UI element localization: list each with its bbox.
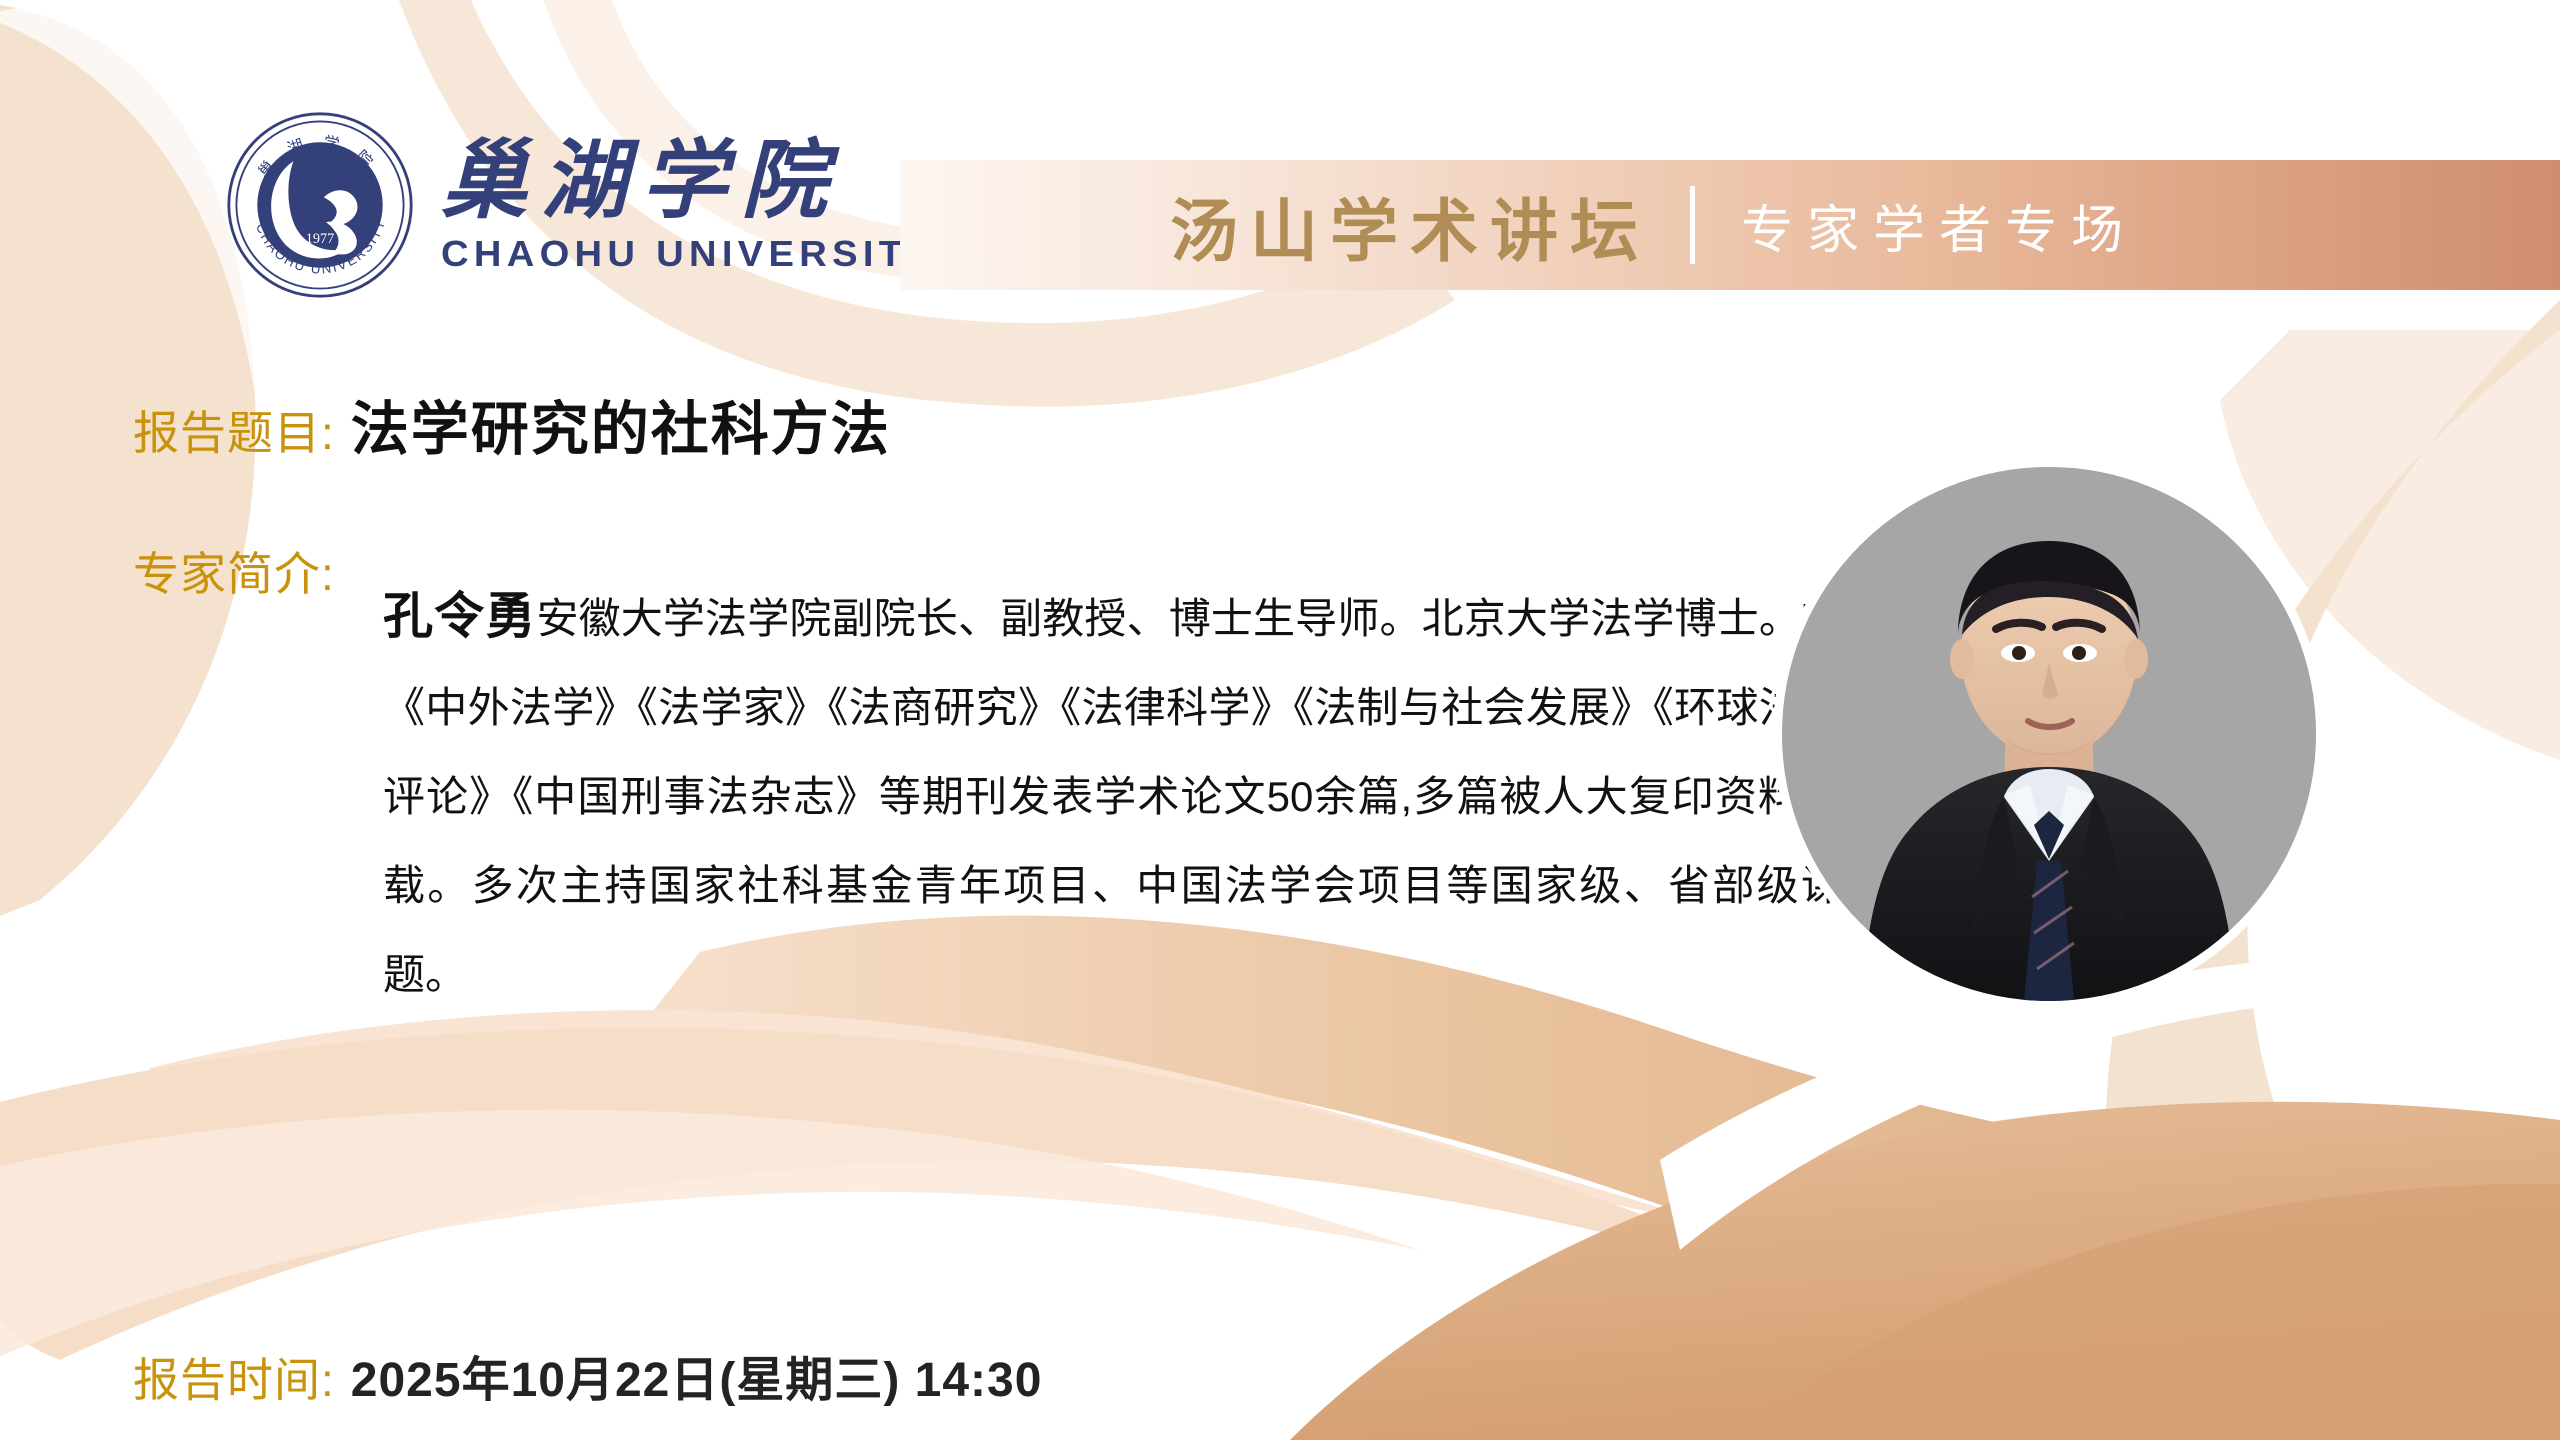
lecture-title-label: 报告题目: (133, 397, 335, 463)
speaker-bio-row: 专家简介: 孔令勇安徽大学法学院副院长、副教授、博士生导师。北京大学法学博士。在… (133, 530, 1853, 1061)
lecture-time-row: 报告时间: 2025年10月22日(星期三) 14:30 (133, 1340, 1042, 1410)
speaker-portrait (1782, 467, 2316, 1001)
lecture-time-value: 2025年10月22日(星期三) 14:30 (351, 1340, 1043, 1410)
speaker-bio-label: 专家简介: (133, 538, 335, 604)
banner-divider (1690, 186, 1695, 264)
lecture-poster: 1977 巢 湖 学 院 CHAOHU UNIVERSITY 巢湖学院 CHAO… (0, 0, 2560, 1440)
seal-year-text: 1977 (306, 231, 335, 247)
speaker-bio-paragraph: 孔令勇安徽大学法学院副院长、副教授、博士生导师。北京大学法学博士。在《中外法学》… (383, 572, 1843, 1019)
speaker-name: 孔令勇 (383, 588, 536, 644)
speaker-bio-body: 孔令勇安徽大学法学院副院长、副教授、博士生导师。北京大学法学博士。在《中外法学》… (383, 572, 1843, 1019)
forum-banner-inner: 汤山学术讲坛 专家学者专场 (1170, 176, 2137, 275)
lecture-title-value: 法学研究的社科方法 (351, 382, 891, 466)
speaker-portrait-illustration (1782, 467, 2316, 1001)
university-logo-block: 1977 巢 湖 学 院 CHAOHU UNIVERSITY 巢湖学院 CHAO… (225, 110, 910, 300)
speaker-bio-text: 安徽大学法学院副院长、副教授、博士生导师。北京大学法学博士。在《中外法学》《法学… (383, 595, 1843, 998)
lecture-title-row: 报告题目: 法学研究的社科方法 (133, 382, 891, 466)
university-name-block: 巢湖学院 CHAOHU UNIVERSITY (441, 138, 910, 272)
university-name-en: CHAOHU UNIVERSITY (441, 236, 938, 272)
poster-header: 1977 巢 湖 学 院 CHAOHU UNIVERSITY 巢湖学院 CHAO… (0, 0, 2560, 310)
university-seal-icon: 1977 巢 湖 学 院 CHAOHU UNIVERSITY (225, 110, 415, 300)
forum-banner-subtitle: 专家学者专场 (1741, 188, 2137, 263)
forum-banner-title: 汤山学术讲坛 (1170, 176, 1650, 275)
lecture-time-label: 报告时间: (133, 1344, 335, 1410)
forum-banner: 汤山学术讲坛 专家学者专场 (900, 160, 2560, 290)
university-name-cn: 巢湖学院 (441, 138, 910, 224)
